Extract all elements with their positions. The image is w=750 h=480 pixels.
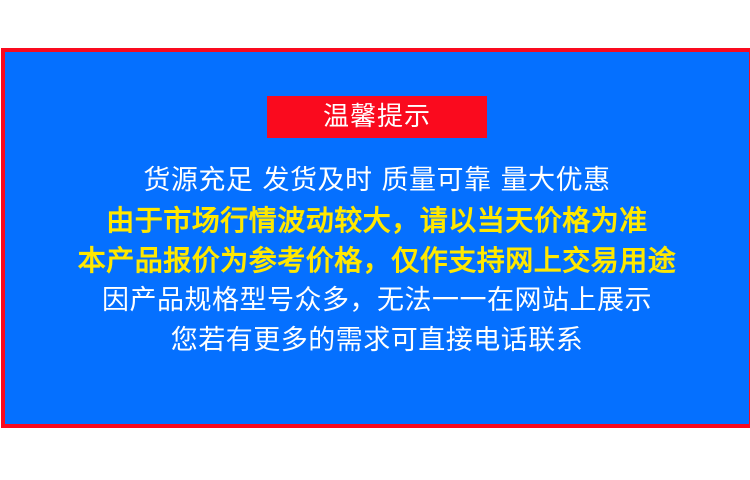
notice-line-4: 因产品规格型号众多，无法一一在网站上展示: [102, 281, 652, 321]
banner-container: 温馨提示: [5, 96, 749, 138]
banner-title: 温馨提示: [323, 104, 431, 130]
notice-panel: 温馨提示 货源充足 发货及时 质量可靠 量大优惠 由于市场行情波动较大，请以当天…: [1, 48, 750, 428]
notice-line-1: 货源充足 发货及时 质量可靠 量大优惠: [143, 161, 610, 201]
notice-line-5: 您若有更多的需求可直接电话联系: [171, 321, 584, 361]
notice-line-2: 由于市场行情波动较大，请以当天价格为准: [106, 201, 648, 241]
notice-banner: 温馨提示: [267, 96, 487, 138]
notice-line-3: 本产品报价为参考价格，仅作支持网上交易用途: [78, 241, 677, 281]
notice-line-list: 货源充足 发货及时 质量可靠 量大优惠 由于市场行情波动较大，请以当天价格为准 …: [5, 161, 749, 361]
